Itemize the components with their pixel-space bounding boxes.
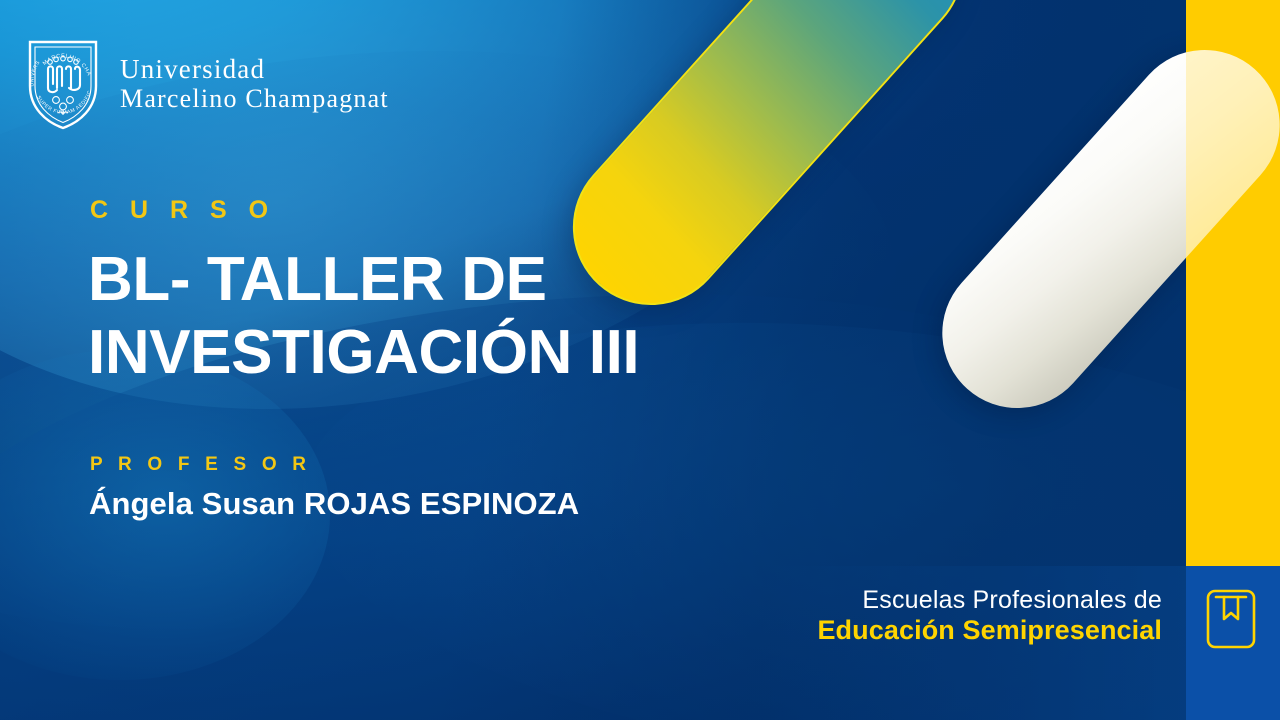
program-footer-line1: Escuelas Profesionales de [817, 586, 1162, 615]
course-eyebrow-label: C U R S O [90, 196, 276, 225]
book-icon [1205, 588, 1257, 650]
program-footer-line2: Educación Semipresencial [817, 615, 1162, 646]
course-title: BL- TALLER DE INVESTIGACIÓN III [88, 243, 768, 389]
university-logo: MARCELINO CHAMPAGNAT UNIVERSIDAD SUPER F… [24, 36, 389, 132]
program-footer: Escuelas Profesionales de Educación Semi… [817, 586, 1162, 646]
university-name-line1: Universidad [120, 55, 389, 85]
professor-eyebrow-label: P R O F E S O R [90, 454, 311, 476]
decorative-band-overlay-clip [1186, 0, 1280, 566]
course-title-slide: MARCELINO CHAMPAGNAT UNIVERSIDAD SUPER F… [0, 0, 1280, 720]
decorative-white-pill-overlay [1186, 19, 1280, 439]
university-wordmark: Universidad Marcelino Champagnat [120, 55, 389, 113]
university-name-line2: Marcelino Champagnat [120, 85, 389, 114]
university-crest-icon: MARCELINO CHAMPAGNAT UNIVERSIDAD SUPER F… [24, 36, 102, 132]
professor-name: Ángela Susan ROJAS ESPINOZA [89, 486, 579, 522]
svg-text:UNIVERSIDAD: UNIVERSIDAD [24, 36, 42, 87]
